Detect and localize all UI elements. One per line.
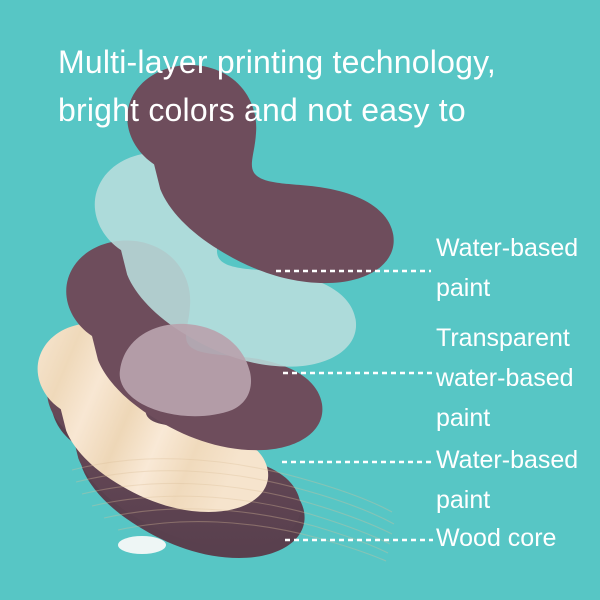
callout-wood-core: Wood core — [436, 518, 556, 558]
callout-text: Water-based — [436, 228, 578, 268]
callout-text: Water-based — [436, 440, 578, 480]
callout-text: paint — [436, 268, 578, 308]
product-infographic: Multi-layer printing technology, bright … — [0, 0, 600, 600]
callout-text: Wood core — [436, 518, 556, 558]
callout-text: paint — [436, 398, 574, 438]
callout-text: Transparent — [436, 318, 574, 358]
callout-text: water-based — [436, 358, 574, 398]
callout-water-based-paint-bottom: Water-based paint — [436, 440, 578, 520]
callout-transparent-water-based-paint: Transparent water-based paint — [436, 318, 574, 438]
callout-water-based-paint-top: Water-based paint — [436, 228, 578, 308]
callout-text: paint — [436, 480, 578, 520]
